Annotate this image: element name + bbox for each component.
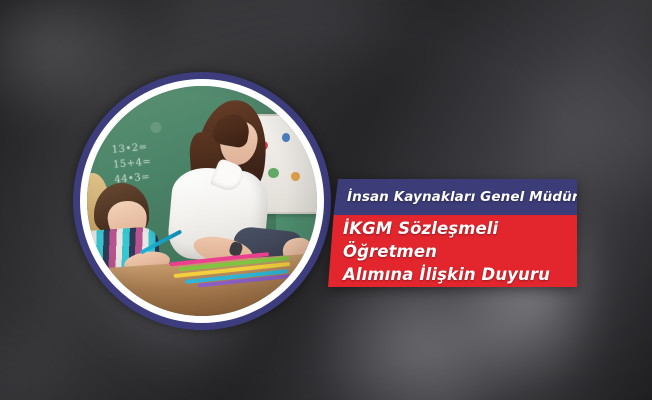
banner-title-band: İKGM Sözleşmeli Öğretmen Alımına İlişkin… <box>325 215 577 287</box>
announcement-banner: İnsan Kaynakları Genel Müdürlüğü İKGM Sö… <box>325 179 577 287</box>
photo-vignette <box>87 86 317 316</box>
circular-photo-frame: 13•2= 15+4= 44•3= 5 2 9+6= <box>73 72 331 330</box>
classroom-photo: 13•2= 15+4= 44•3= 5 2 9+6= <box>87 86 317 316</box>
banner-title-text: İKGM Sözleşmeli Öğretmen Alımına İlişkin… <box>325 217 577 286</box>
banner-eyebrow-band: İnsan Kaynakları Genel Müdürlüğü <box>325 179 577 215</box>
banner-title-line-2: Alımına İlişkin Duyuru <box>343 265 550 284</box>
banner-image-canvas: 13•2= 15+4= 44•3= 5 2 9+6= <box>0 0 652 400</box>
photo-scene: 13•2= 15+4= 44•3= 5 2 9+6= <box>87 86 317 316</box>
banner-eyebrow-text: İnsan Kaynakları Genel Müdürlüğü <box>325 189 613 205</box>
banner-title-line-1: İKGM Sözleşmeli Öğretmen <box>343 219 498 261</box>
circular-photo-inner-ring: 13•2= 15+4= 44•3= 5 2 9+6= <box>80 79 324 323</box>
